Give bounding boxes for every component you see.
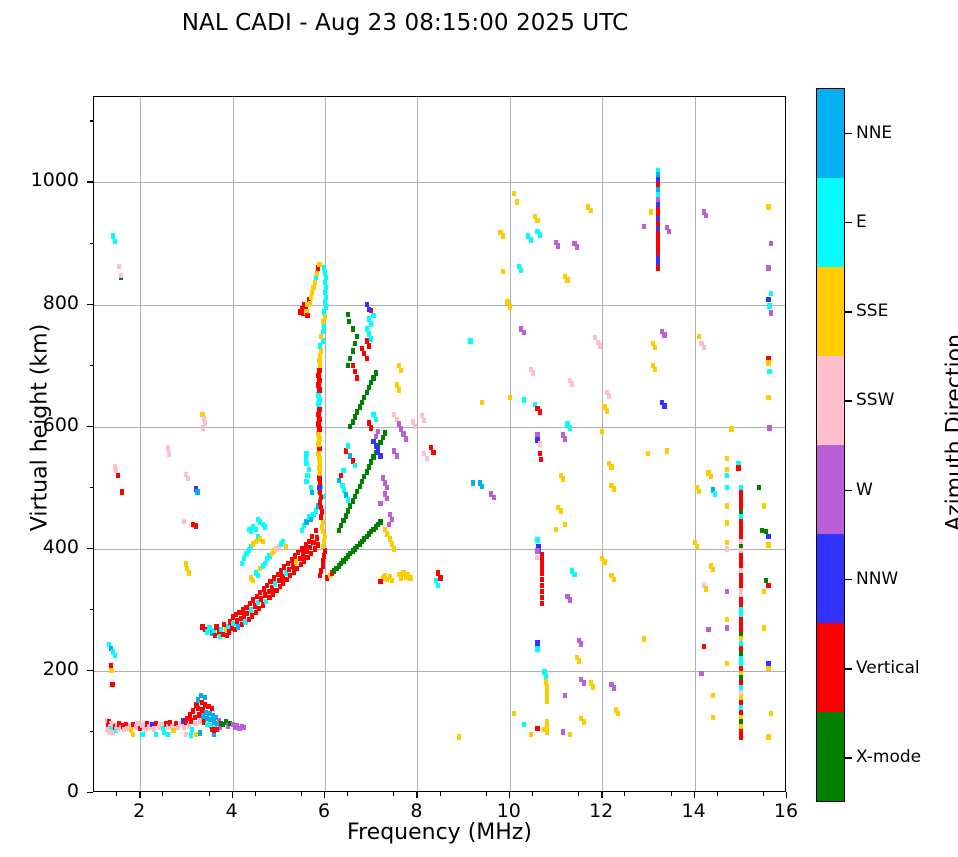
data-point	[318, 480, 322, 485]
data-point	[318, 500, 322, 505]
data-point	[194, 732, 198, 737]
data-point	[309, 295, 313, 300]
data-point	[182, 724, 186, 729]
data-point	[385, 496, 389, 501]
data-point	[766, 534, 770, 539]
x-tick-minor	[440, 792, 441, 796]
data-point	[341, 518, 345, 523]
data-point	[508, 304, 512, 309]
data-point	[612, 577, 616, 582]
colorbar-label-e: E	[856, 212, 867, 232]
data-point	[263, 561, 267, 566]
data-point	[316, 373, 320, 378]
data-point	[319, 495, 323, 500]
data-point	[662, 403, 666, 408]
data-point	[171, 728, 175, 733]
x-tick	[786, 792, 787, 798]
data-point	[767, 369, 771, 374]
data-point	[154, 732, 158, 737]
data-point	[360, 479, 364, 484]
colorbar-label-sse: SSE	[856, 301, 888, 321]
data-point	[347, 319, 351, 324]
data-point	[535, 218, 539, 223]
data-point	[348, 424, 352, 429]
data-point	[480, 400, 484, 405]
data-point	[766, 666, 770, 671]
x-tick-minor	[209, 792, 210, 796]
colorbar-title: Azimuth Direction	[943, 253, 958, 613]
data-point	[191, 708, 195, 713]
data-point	[316, 451, 320, 456]
y-tick-label: 200	[9, 658, 79, 680]
data-point	[113, 653, 117, 658]
data-point	[766, 542, 770, 547]
data-point	[725, 503, 729, 508]
data-point	[308, 545, 312, 550]
data-point	[319, 514, 323, 519]
data-point	[376, 429, 380, 434]
data-point	[323, 299, 327, 304]
data-point	[351, 363, 355, 368]
data-point	[568, 597, 572, 602]
data-point	[540, 595, 544, 600]
data-point	[769, 711, 773, 716]
data-point	[322, 553, 326, 558]
colorbar-label-ssw: SSW	[856, 390, 894, 410]
data-point	[725, 467, 729, 472]
x-axis-title: Frequency (MHz)	[93, 820, 786, 845]
data-point	[422, 418, 426, 423]
data-point	[607, 393, 611, 398]
data-point	[322, 265, 326, 270]
data-point	[378, 579, 382, 584]
x-tick	[509, 792, 510, 798]
y-tick-minor	[90, 365, 94, 366]
data-point	[512, 191, 516, 196]
data-point	[392, 546, 396, 551]
data-point	[545, 699, 549, 704]
data-point	[515, 199, 519, 204]
data-point	[522, 330, 526, 335]
data-point	[369, 380, 373, 385]
data-point	[538, 441, 542, 446]
colorbar-label-w: W	[856, 480, 873, 500]
data-point	[649, 209, 653, 214]
data-point	[709, 474, 713, 479]
data-point	[254, 527, 258, 532]
data-point	[110, 682, 114, 687]
data-point	[425, 456, 429, 461]
data-point	[535, 726, 539, 731]
x-tick-minor	[116, 792, 117, 796]
data-point	[355, 334, 359, 339]
data-point	[568, 425, 572, 430]
data-point	[348, 503, 352, 508]
data-point	[766, 204, 770, 209]
data-point	[508, 395, 512, 400]
data-point	[351, 326, 355, 331]
data-point	[317, 407, 321, 412]
data-point	[540, 601, 544, 606]
data-point	[307, 467, 311, 472]
data-point	[321, 338, 325, 343]
data-point	[304, 519, 308, 524]
data-point	[769, 291, 773, 296]
data-point	[317, 387, 321, 392]
data-point	[399, 575, 403, 580]
data-point	[311, 285, 315, 290]
data-point	[662, 332, 666, 337]
gridline-horizontal	[94, 427, 785, 428]
x-tick	[601, 792, 602, 798]
data-point	[355, 489, 359, 494]
data-point	[602, 559, 606, 564]
data-point	[323, 290, 327, 295]
data-point	[413, 424, 417, 429]
data-point	[317, 426, 321, 431]
data-point	[760, 528, 764, 533]
data-point	[378, 519, 382, 524]
data-point	[140, 732, 144, 737]
data-point	[317, 397, 321, 402]
data-point	[317, 417, 321, 422]
data-point	[539, 457, 543, 462]
data-point	[480, 484, 484, 489]
data-point	[762, 589, 766, 594]
data-point	[711, 715, 715, 720]
data-point	[367, 307, 371, 312]
data-point	[711, 693, 715, 698]
colorbar-tick	[845, 133, 852, 134]
data-point	[314, 528, 318, 533]
data-point	[194, 721, 198, 726]
data-point	[540, 577, 544, 582]
x-tick-minor	[301, 792, 302, 796]
data-point	[563, 522, 567, 527]
colorbar-segment-ssw	[817, 356, 844, 445]
data-point	[189, 732, 193, 737]
gridline-horizontal	[94, 305, 785, 306]
data-point	[646, 451, 650, 456]
data-point	[323, 280, 327, 285]
data-point	[321, 563, 325, 568]
data-point	[318, 490, 322, 495]
data-point	[187, 570, 191, 575]
colorbar-segment-sse	[817, 267, 844, 356]
y-tick	[87, 426, 93, 427]
data-point	[538, 232, 542, 237]
data-point	[182, 519, 186, 524]
data-point	[317, 485, 321, 490]
data-point	[120, 489, 124, 494]
data-point	[369, 321, 373, 326]
gridline-horizontal	[94, 671, 785, 672]
data-point	[254, 539, 258, 544]
colorbar-tick	[845, 757, 852, 758]
data-point	[535, 537, 539, 542]
data-point	[316, 412, 320, 417]
data-point	[321, 329, 325, 334]
data-point	[616, 711, 620, 716]
x-tick-label: 10	[479, 800, 539, 822]
y-tick-label: 0	[9, 780, 79, 802]
data-point	[538, 451, 542, 456]
data-point	[324, 295, 328, 300]
data-point	[324, 275, 328, 280]
data-point	[387, 522, 391, 527]
data-point	[399, 368, 403, 373]
data-point	[321, 519, 325, 524]
data-point	[711, 567, 715, 572]
data-point	[540, 570, 544, 575]
data-point	[346, 443, 350, 448]
data-point	[725, 485, 729, 490]
data-point	[318, 461, 322, 466]
data-point	[184, 732, 188, 737]
colorbar-label-nne: NNE	[856, 123, 892, 143]
data-point	[702, 345, 706, 350]
data-point	[762, 625, 766, 630]
x-tick-minor	[717, 792, 718, 796]
y-tick-minor	[90, 609, 94, 610]
data-point	[317, 465, 321, 470]
x-tick-label: 8	[386, 800, 446, 822]
data-point	[766, 583, 770, 588]
data-point	[769, 241, 773, 246]
gridline-horizontal	[94, 182, 785, 183]
data-point	[769, 310, 773, 315]
colorbar	[816, 88, 845, 802]
x-tick-minor	[763, 792, 764, 796]
data-point	[369, 425, 373, 430]
data-point	[538, 409, 542, 414]
colorbar-segment-x-mode	[817, 712, 844, 801]
data-point	[582, 719, 586, 724]
data-point	[529, 732, 533, 737]
colorbar-segment-nnw	[817, 534, 844, 623]
data-point	[317, 358, 321, 363]
data-point	[471, 480, 475, 485]
data-point	[535, 555, 539, 560]
data-point	[317, 436, 321, 441]
data-point	[316, 421, 320, 426]
gridline-vertical	[695, 97, 696, 791]
figure-title: NAL CADI - Aug 23 08:15:00 2025 UTC	[0, 10, 810, 36]
data-point	[353, 414, 357, 419]
data-point	[395, 453, 399, 458]
data-point	[310, 490, 314, 495]
data-point	[261, 539, 265, 544]
data-point	[166, 445, 170, 450]
data-point	[321, 544, 325, 549]
data-point	[304, 451, 308, 456]
data-point	[591, 684, 595, 689]
data-point	[766, 360, 770, 365]
data-point	[593, 335, 597, 340]
data-point	[324, 285, 328, 290]
data-point	[457, 734, 461, 739]
data-point	[397, 387, 401, 392]
data-point	[317, 475, 321, 480]
data-point	[706, 627, 710, 632]
y-tick-label: 1000	[9, 169, 79, 191]
data-point	[704, 586, 708, 591]
data-point	[320, 509, 324, 514]
x-tick-minor	[578, 792, 579, 796]
data-point	[695, 544, 699, 549]
data-point	[318, 343, 322, 348]
data-point	[575, 244, 579, 249]
data-point	[298, 309, 302, 314]
data-point	[307, 539, 311, 544]
data-point	[339, 523, 343, 528]
data-point	[725, 456, 729, 461]
data-point	[371, 375, 375, 380]
data-point	[725, 473, 729, 478]
data-point	[348, 356, 352, 361]
data-point	[656, 265, 660, 270]
data-point	[725, 520, 729, 525]
data-point	[697, 334, 701, 339]
data-point	[512, 711, 516, 716]
colorbar-tick	[845, 579, 852, 580]
data-point	[556, 243, 560, 248]
data-point	[385, 485, 389, 490]
data-point	[367, 464, 371, 469]
data-point	[358, 484, 362, 489]
data-point	[598, 343, 602, 348]
data-point	[240, 561, 244, 566]
data-point	[314, 275, 318, 280]
data-point	[725, 540, 729, 545]
data-point	[563, 693, 567, 698]
data-point	[315, 535, 319, 540]
data-point	[251, 578, 255, 583]
data-point	[565, 277, 569, 282]
data-point	[362, 395, 366, 400]
x-tick-minor	[486, 792, 487, 796]
data-point	[378, 501, 382, 506]
x-tick-label: 14	[664, 800, 724, 822]
data-point	[210, 706, 214, 711]
data-point	[371, 454, 375, 459]
x-tick-minor	[347, 792, 348, 796]
x-tick-minor	[393, 792, 394, 796]
ionogram-figure: NAL CADI - Aug 23 08:15:00 2025 UTC 2468…	[0, 0, 958, 857]
plot-area	[93, 96, 786, 792]
data-point	[321, 529, 325, 534]
data-point	[757, 485, 761, 490]
y-tick-minor	[90, 731, 94, 732]
data-point	[314, 508, 318, 513]
data-point	[324, 304, 328, 309]
data-point	[242, 725, 246, 730]
data-point	[316, 542, 320, 547]
colorbar-segment-vertical	[817, 623, 844, 712]
data-point	[195, 489, 199, 494]
data-point	[344, 513, 348, 518]
data-point	[642, 224, 646, 229]
data-point	[762, 503, 766, 508]
data-point	[316, 392, 320, 397]
data-point	[540, 564, 544, 569]
data-point	[561, 476, 565, 481]
colorbar-segment-e	[817, 178, 844, 267]
data-point	[408, 575, 412, 580]
data-point	[109, 668, 113, 673]
data-point	[725, 617, 729, 622]
data-point	[764, 529, 768, 534]
data-point	[766, 734, 770, 739]
data-point	[360, 400, 364, 405]
data-point	[371, 313, 375, 318]
y-tick	[87, 181, 93, 182]
data-point	[317, 262, 321, 267]
data-point	[310, 290, 314, 295]
data-point	[323, 314, 327, 319]
data-point	[365, 390, 369, 395]
data-point	[582, 680, 586, 685]
data-point	[605, 408, 609, 413]
data-canvas	[94, 97, 785, 791]
data-point	[699, 671, 703, 676]
data-point	[501, 269, 505, 274]
data-point	[535, 548, 539, 553]
data-point	[374, 417, 378, 422]
data-point	[725, 589, 729, 594]
data-point	[305, 313, 309, 318]
data-point	[725, 546, 729, 551]
data-point	[309, 517, 313, 522]
data-point	[365, 356, 369, 361]
data-point	[540, 558, 544, 563]
colorbar-tick	[845, 490, 852, 491]
data-point	[313, 280, 317, 285]
data-point	[570, 381, 574, 386]
data-point	[739, 505, 743, 510]
data-point	[131, 732, 135, 737]
data-point	[317, 446, 321, 451]
x-tick-minor	[255, 792, 256, 796]
data-point	[568, 732, 572, 737]
x-tick-label: 12	[571, 800, 631, 822]
data-point	[284, 544, 288, 549]
data-point	[310, 534, 314, 539]
data-point	[317, 456, 321, 461]
data-point	[242, 556, 246, 561]
gridline-vertical	[325, 97, 326, 791]
data-point	[766, 297, 770, 302]
data-point	[767, 303, 771, 308]
data-point	[198, 730, 202, 735]
data-point	[322, 539, 326, 544]
data-point	[304, 456, 308, 461]
data-point	[767, 425, 771, 430]
data-point	[304, 461, 308, 466]
data-point	[309, 551, 313, 556]
data-point	[113, 239, 117, 244]
data-point	[193, 715, 197, 720]
y-tick	[87, 670, 93, 671]
data-point	[535, 646, 539, 651]
data-point	[404, 436, 408, 441]
y-tick	[87, 304, 93, 305]
data-point	[344, 448, 348, 453]
data-point	[315, 270, 319, 275]
data-point	[369, 336, 373, 341]
data-point	[653, 345, 657, 350]
data-point	[351, 498, 355, 503]
